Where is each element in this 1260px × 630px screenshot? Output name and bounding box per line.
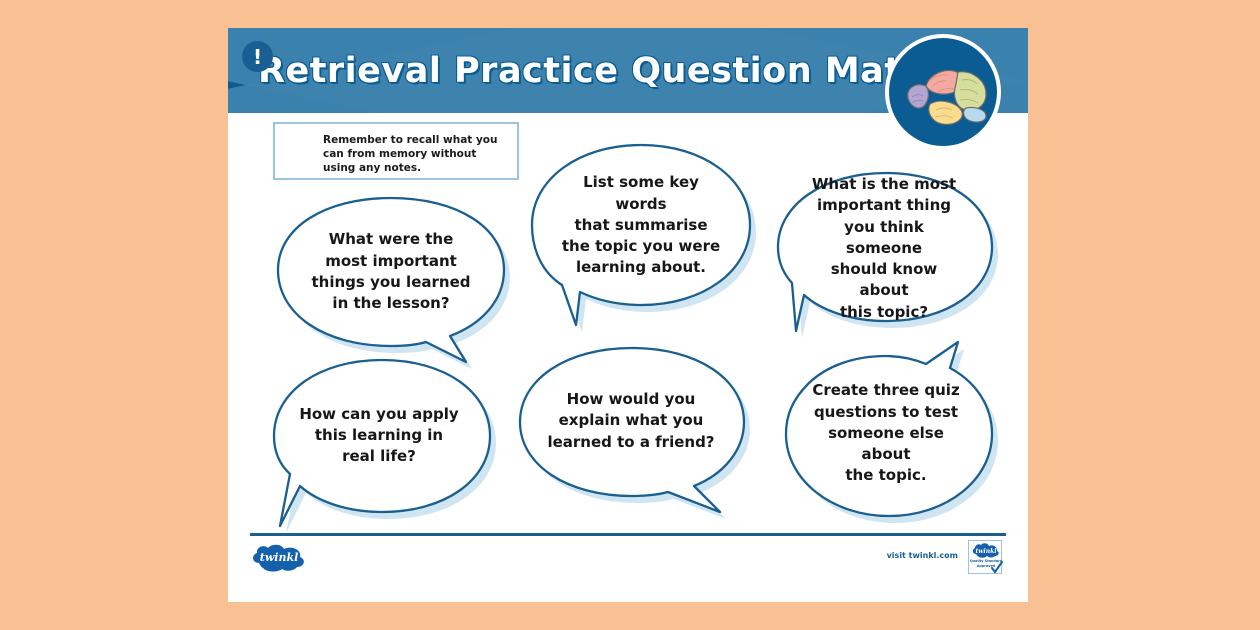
poster-sheet: Retrieval Practice Question Mat: [228, 28, 1028, 602]
bubble-3-text: What is the most important thing you thi…: [774, 171, 994, 326]
page-title: Retrieval Practice Question Mat: [258, 51, 902, 91]
bubble-5[interactable]: How would you explain what you learned t…: [516, 346, 746, 496]
bubble-2-text: List some key words that summarise the t…: [530, 143, 752, 308]
bubble-6-text: Create three quiz questions to test some…: [776, 340, 996, 505]
bubble-2[interactable]: List some key words that summarise the t…: [530, 143, 752, 308]
exclamation-icon: !: [242, 41, 273, 72]
bubble-3[interactable]: What is the most important thing you thi…: [774, 171, 994, 326]
bubble-5-text: How would you explain what you learned t…: [516, 346, 746, 496]
bubble-4[interactable]: How can you apply this learning in real …: [268, 358, 490, 513]
bubble-1-text: What were the most important things you …: [276, 196, 506, 348]
bubble-1[interactable]: What were the most important things you …: [276, 196, 506, 348]
brain-icon: [885, 34, 1001, 150]
check-icon: [991, 561, 1003, 575]
twinkl-logo[interactable]: twinkl: [250, 543, 308, 573]
visit-link[interactable]: visit twinkl.com: [838, 551, 958, 560]
badge-cloud-icon: twinkl: [972, 543, 1000, 558]
remember-box: Remember to recall what you can from mem…: [273, 122, 519, 180]
poster-canvas: Retrieval Practice Question Mat: [0, 0, 1260, 630]
bubble-4-text: How can you apply this learning in real …: [268, 358, 490, 513]
quality-standard-badge: twinkl Quality Standard Approved: [968, 540, 1002, 574]
twinkl-wordmark: twinkl: [260, 551, 299, 564]
remember-text: Remember to recall what you can from mem…: [323, 133, 511, 176]
footer-divider: [250, 533, 1006, 536]
bubble-6[interactable]: Create three quiz questions to test some…: [776, 340, 996, 505]
svg-text:twinkl: twinkl: [975, 548, 997, 555]
